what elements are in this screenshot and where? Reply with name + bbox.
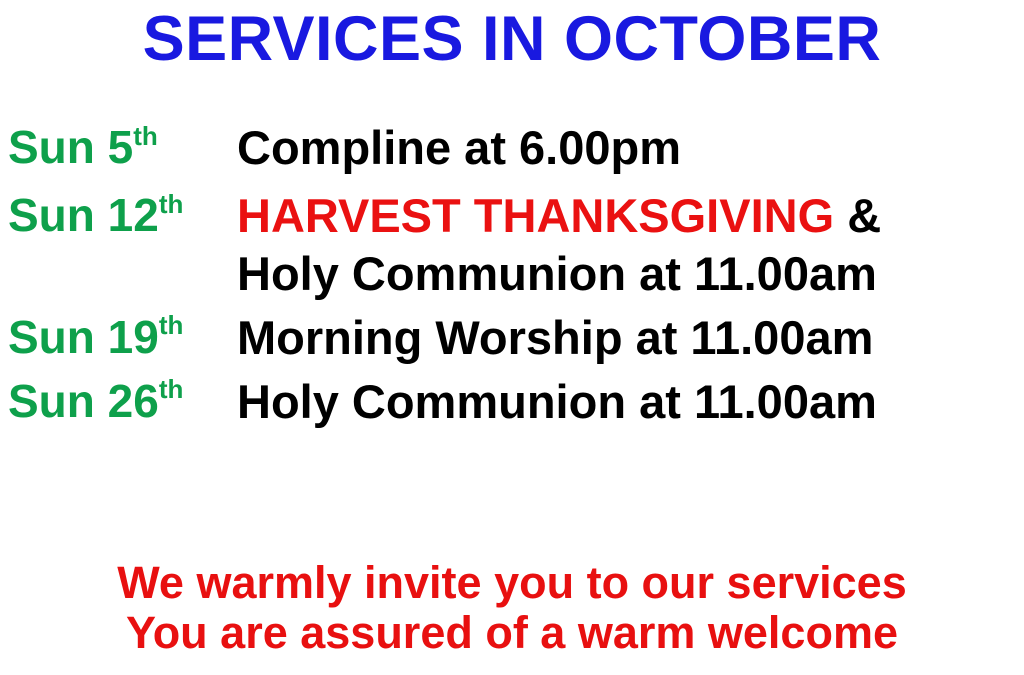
harvest-thanksgiving-highlight: HARVEST THANKSGIVING [237, 189, 834, 242]
service-date-number: 12 [108, 189, 159, 241]
invitation-message: We warmly invite you to our services You… [0, 558, 1024, 659]
service-description: HARVEST THANKSGIVING &Holy Communion at … [237, 192, 1024, 298]
service-row: Sun 12th HARVEST THANKSGIVING &Holy Comm… [0, 192, 1024, 298]
service-date: Sun 26th [0, 378, 237, 425]
service-row: Sun 26th Holy Communion at 11.00am [0, 378, 1024, 426]
service-description-line: Morning Worship at 11.00am [237, 311, 873, 364]
service-date-text: Sun [8, 189, 95, 241]
service-date-number: 5 [108, 121, 134, 173]
service-description-suffix: & [834, 189, 881, 242]
service-date-text: Sun [8, 311, 95, 363]
service-schedule-list: Sun 5th Compline at 6.00pm Sun 12th HARV… [0, 124, 1024, 426]
service-row: Sun 5th Compline at 6.00pm [0, 124, 1024, 172]
ordinal-suffix: th [159, 310, 184, 340]
services-poster: SERVICES IN OCTOBER Sun 5th Compline at … [0, 0, 1024, 675]
service-date-number: 19 [108, 311, 159, 363]
service-date-text: Sun [8, 121, 95, 173]
service-row: Sun 19th Morning Worship at 11.00am [0, 314, 1024, 362]
service-date: Sun 12th [0, 192, 237, 239]
service-description-line: Compline at 6.00pm [237, 121, 681, 174]
service-date-number: 26 [108, 375, 159, 427]
ordinal-suffix: th [159, 374, 184, 404]
service-date: Sun 19th [0, 314, 237, 361]
invitation-line-1: We warmly invite you to our services [0, 558, 1024, 608]
service-date: Sun 5th [0, 124, 237, 171]
service-description: Morning Worship at 11.00am [237, 314, 1024, 362]
page-title: SERVICES IN OCTOBER [0, 6, 1024, 73]
service-description-line: Holy Communion at 11.00am [237, 375, 877, 428]
service-description: Holy Communion at 11.00am [237, 378, 1024, 426]
service-description: Compline at 6.00pm [237, 124, 1024, 172]
ordinal-suffix: th [133, 121, 158, 151]
service-description-line-2: Holy Communion at 11.00am [237, 250, 1024, 298]
service-date-text: Sun [8, 375, 95, 427]
ordinal-suffix: th [159, 189, 184, 219]
invitation-line-2: You are assured of a warm welcome [0, 608, 1024, 658]
